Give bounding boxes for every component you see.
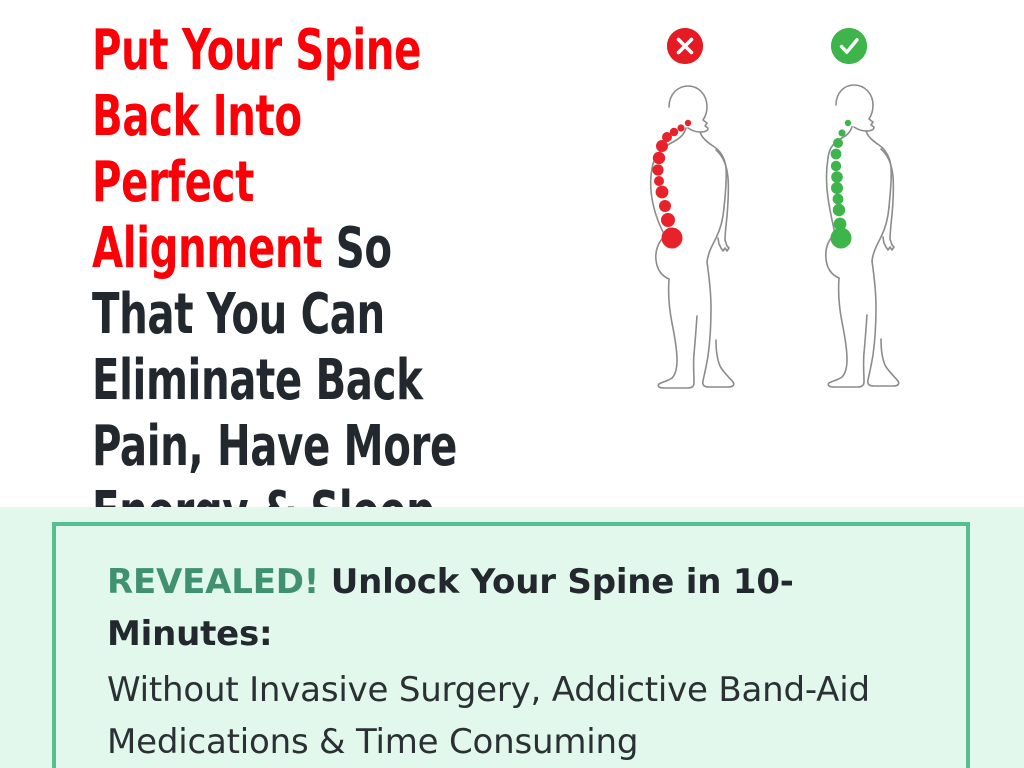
cross-circle-icon [667, 28, 703, 64]
posture-comparison-graphic [600, 18, 900, 398]
good-posture-body-silhouette [792, 78, 922, 398]
revealed-section: REVEALED! Unlock Your Spine in 10-Minute… [0, 507, 1024, 768]
landing-page: Put Your Spine Back Into Perfect Alignme… [0, 0, 1024, 768]
good-posture-figure [792, 18, 922, 398]
revealed-label: REVEALED! [107, 562, 319, 602]
bad-posture-body-silhouette [628, 78, 758, 398]
check-circle-icon [831, 28, 867, 64]
hero-section: Put Your Spine Back Into Perfect Alignme… [0, 0, 1024, 507]
revealed-subtitle: Without Invasive Surgery, Addictive Band… [107, 660, 927, 768]
bad-posture-figure [628, 18, 758, 398]
revealed-title: REVEALED! Unlock Your Spine in 10-Minute… [107, 556, 927, 660]
revealed-callout-box: REVEALED! Unlock Your Spine in 10-Minute… [52, 522, 970, 768]
revealed-callout-content: REVEALED! Unlock Your Spine in 10-Minute… [107, 556, 927, 768]
bad-posture-spine-dots [652, 120, 691, 249]
